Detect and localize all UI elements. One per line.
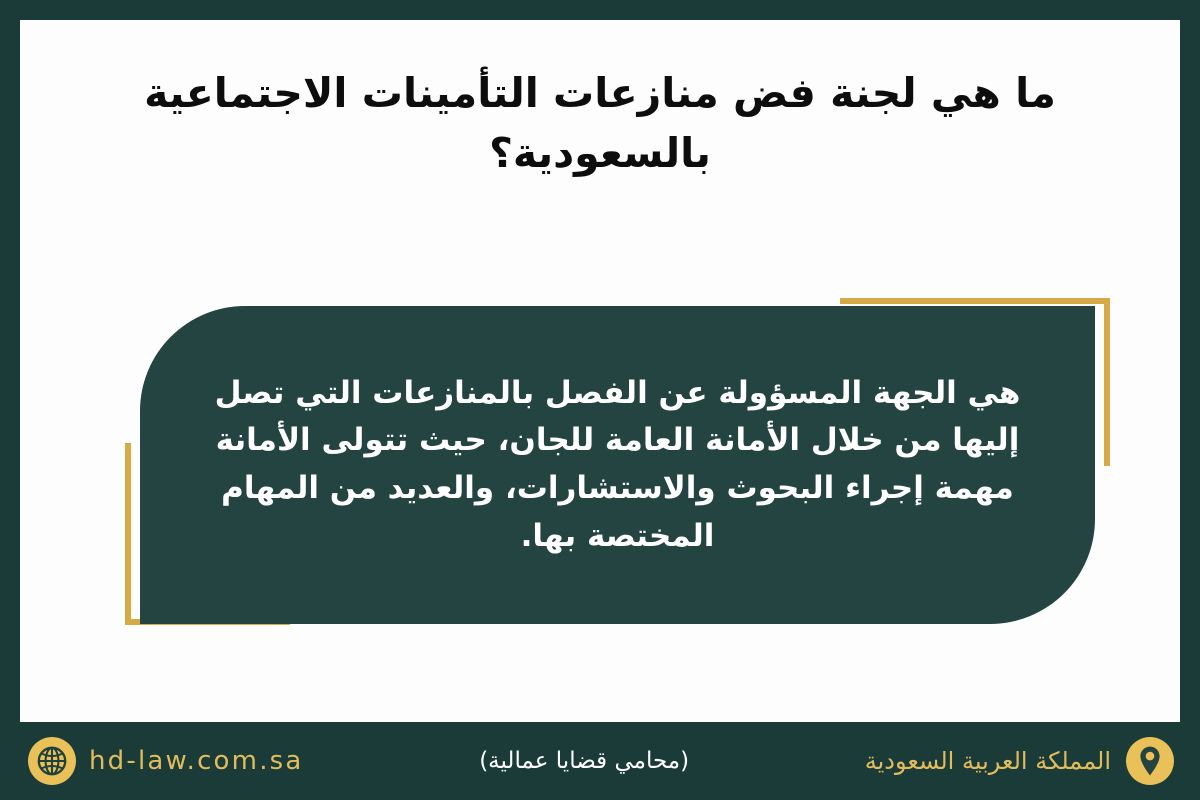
practice-note-label: (محامي قضايا عمالية) [479, 748, 689, 774]
footer-bar: hd-law.com.sa (محامي قضايا عمالية) الممل… [0, 722, 1200, 800]
footer-center-group: (محامي قضايا عمالية) [304, 748, 865, 774]
site-url-label[interactable]: hd-law.com.sa [89, 746, 304, 776]
answer-card: هي الجهة المسؤولة عن الفصل بالمنازعات ال… [140, 306, 1095, 624]
answer-card-group: هي الجهة المسؤولة عن الفصل بالمنازعات ال… [125, 278, 1110, 638]
footer-left-group: hd-law.com.sa [0, 737, 304, 785]
poster-root: ما هي لجنة فض منازعات التأمينات الاجتماع… [0, 0, 1200, 800]
map-pin-icon [1126, 737, 1174, 785]
content-panel: ما هي لجنة فض منازعات التأمينات الاجتماع… [20, 20, 1180, 722]
footer-right-group: المملكة العربية السعودية [865, 737, 1200, 785]
page-title: ما هي لجنة فض منازعات التأمينات الاجتماع… [20, 64, 1180, 184]
globe-icon [28, 737, 76, 785]
answer-card-text: هي الجهة المسؤولة عن الفصل بالمنازعات ال… [140, 370, 1095, 561]
country-label: المملكة العربية السعودية [865, 747, 1111, 775]
